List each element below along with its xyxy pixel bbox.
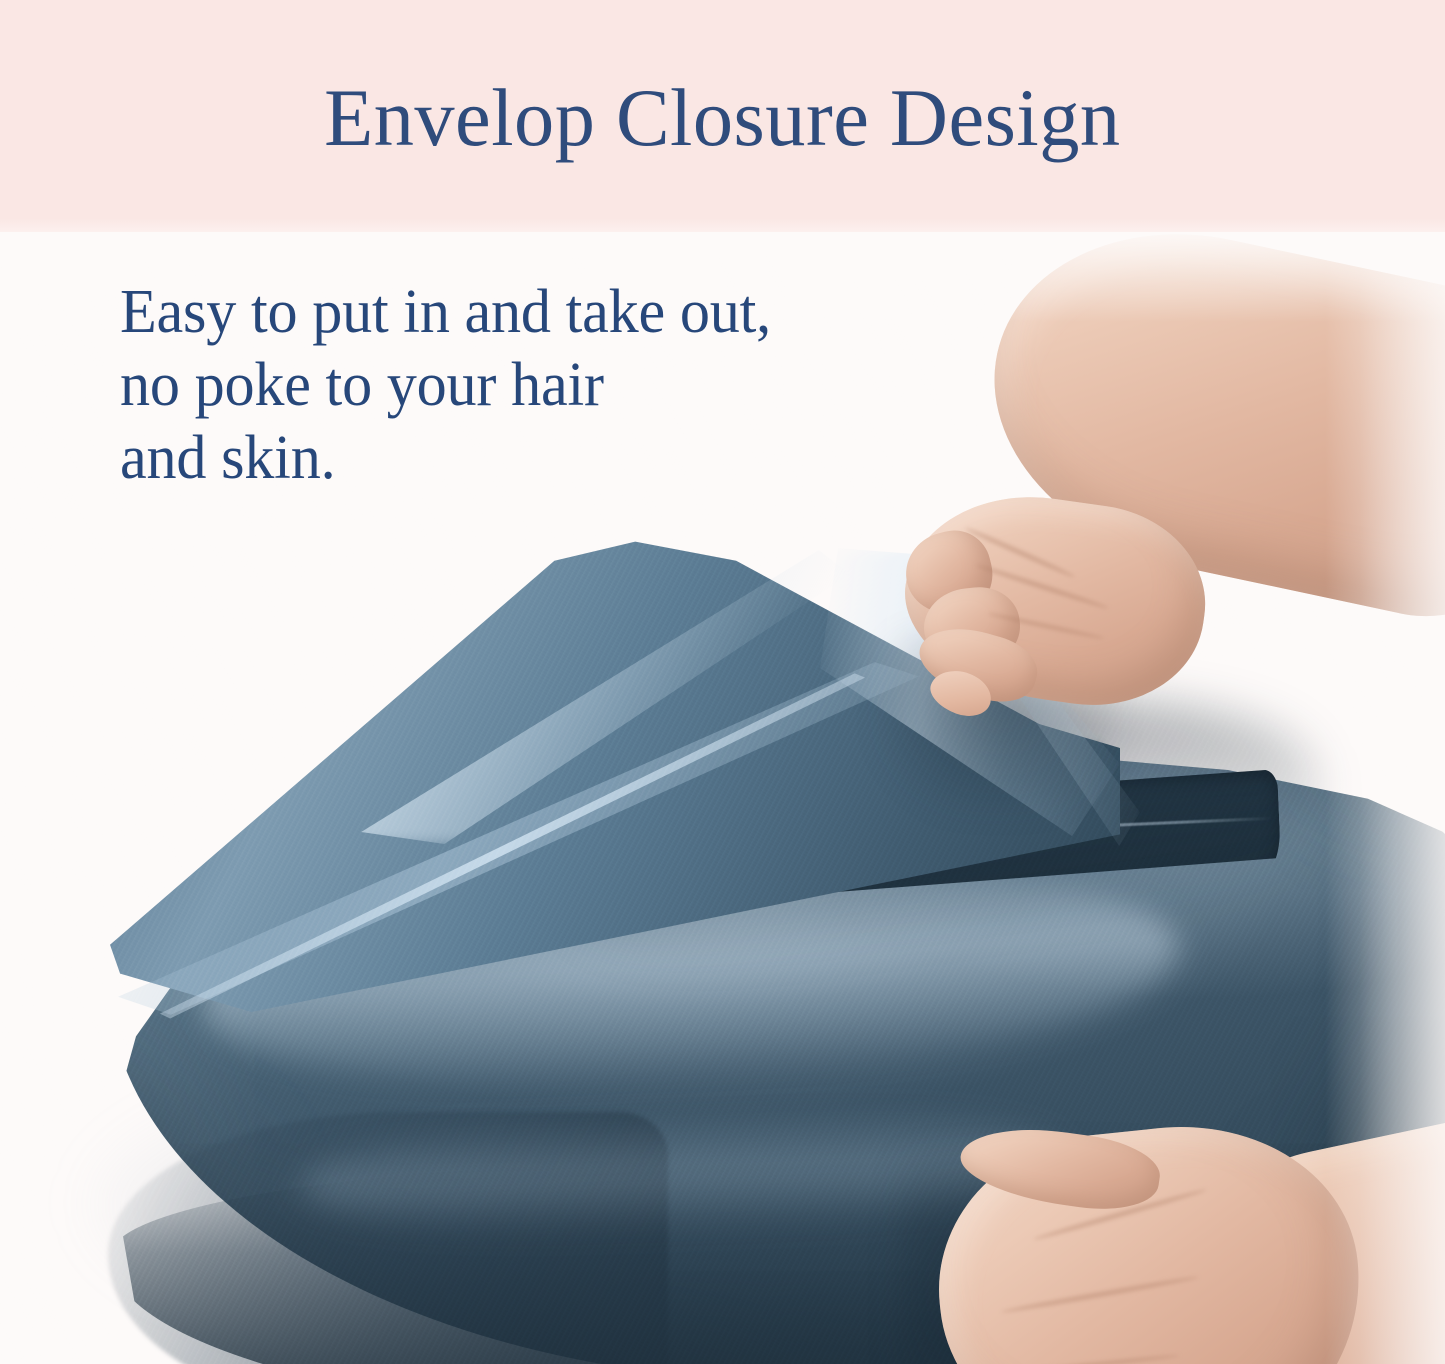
header-band: Envelop Closure Design <box>0 0 1445 232</box>
feature-banner: Envelop Closure Design Easy to put in an… <box>0 0 1445 1364</box>
page-title: Envelop Closure Design <box>324 77 1120 159</box>
description-line-1: Easy to put in and take out, <box>120 276 915 349</box>
description-line-3: and skin. <box>120 422 915 495</box>
description-line-2: no poke to your hair <box>120 349 915 422</box>
feature-description: Easy to put in and take out, no poke to … <box>120 276 940 495</box>
